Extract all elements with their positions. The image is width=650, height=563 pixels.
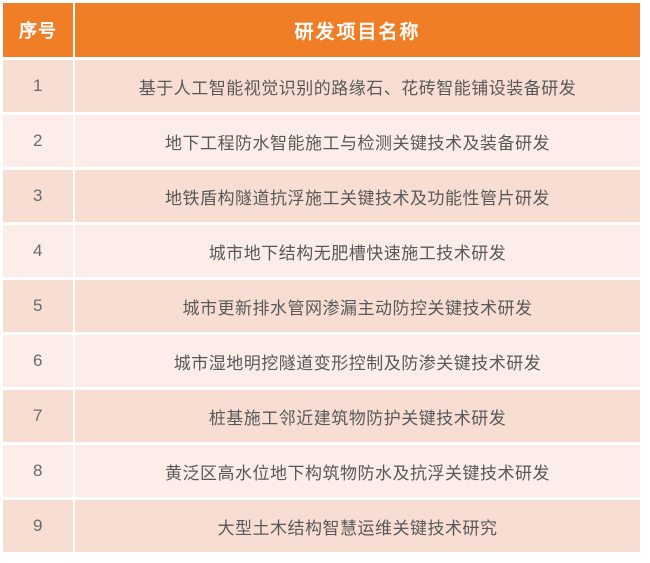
cell-project-name: 城市地下结构无肥槽快速施工技术研发 bbox=[75, 225, 640, 280]
table-row: 4 城市地下结构无肥槽快速施工技术研发 bbox=[3, 225, 640, 280]
table-row: 9 大型土木结构智慧运维关键技术研究 bbox=[3, 500, 640, 552]
cell-index: 4 bbox=[3, 225, 75, 280]
table-row: 3 地铁盾构隧道抗浮施工关键技术及功能性管片研发 bbox=[3, 170, 640, 225]
cell-index: 6 bbox=[3, 335, 75, 390]
cell-index: 2 bbox=[3, 115, 75, 170]
header-row: 序号 研发项目名称 bbox=[3, 3, 640, 60]
table-row: 2 地下工程防水智能施工与检测关键技术及装备研发 bbox=[3, 115, 640, 170]
cell-index: 1 bbox=[3, 60, 75, 115]
table-row: 6 城市湿地明挖隧道变形控制及防渗关键技术研发 bbox=[3, 335, 640, 390]
cell-project-name: 桩基施工邻近建筑物防护关键技术研发 bbox=[75, 390, 640, 445]
rd-project-table: 序号 研发项目名称 1 基于人工智能视觉识别的路缘石、花砖智能铺设装备研发 2 … bbox=[3, 3, 640, 552]
table-row: 1 基于人工智能视觉识别的路缘石、花砖智能铺设装备研发 bbox=[3, 60, 640, 115]
cell-index: 5 bbox=[3, 280, 75, 335]
project-table-container: 序号 研发项目名称 1 基于人工智能视觉识别的路缘石、花砖智能铺设装备研发 2 … bbox=[3, 3, 640, 558]
table-row: 7 桩基施工邻近建筑物防护关键技术研发 bbox=[3, 390, 640, 445]
cell-project-name: 地铁盾构隧道抗浮施工关键技术及功能性管片研发 bbox=[75, 170, 640, 225]
table-body: 1 基于人工智能视觉识别的路缘石、花砖智能铺设装备研发 2 地下工程防水智能施工… bbox=[3, 60, 640, 552]
table-row: 5 城市更新排水管网渗漏主动防控关键技术研发 bbox=[3, 280, 640, 335]
cell-index: 7 bbox=[3, 390, 75, 445]
cell-project-name: 城市湿地明挖隧道变形控制及防渗关键技术研发 bbox=[75, 335, 640, 390]
cell-project-name: 大型土木结构智慧运维关键技术研究 bbox=[75, 500, 640, 552]
cell-index: 8 bbox=[3, 445, 75, 500]
cell-index: 3 bbox=[3, 170, 75, 225]
cell-project-name: 基于人工智能视觉识别的路缘石、花砖智能铺设装备研发 bbox=[75, 60, 640, 115]
cell-index: 9 bbox=[3, 500, 75, 552]
cell-project-name: 黄泛区高水位地下构筑物防水及抗浮关键技术研发 bbox=[75, 445, 640, 500]
column-header-index: 序号 bbox=[3, 3, 75, 60]
cell-project-name: 地下工程防水智能施工与检测关键技术及装备研发 bbox=[75, 115, 640, 170]
column-header-project-name: 研发项目名称 bbox=[75, 3, 640, 60]
cell-project-name: 城市更新排水管网渗漏主动防控关键技术研发 bbox=[75, 280, 640, 335]
table-header: 序号 研发项目名称 bbox=[3, 3, 640, 60]
table-row: 8 黄泛区高水位地下构筑物防水及抗浮关键技术研发 bbox=[3, 445, 640, 500]
